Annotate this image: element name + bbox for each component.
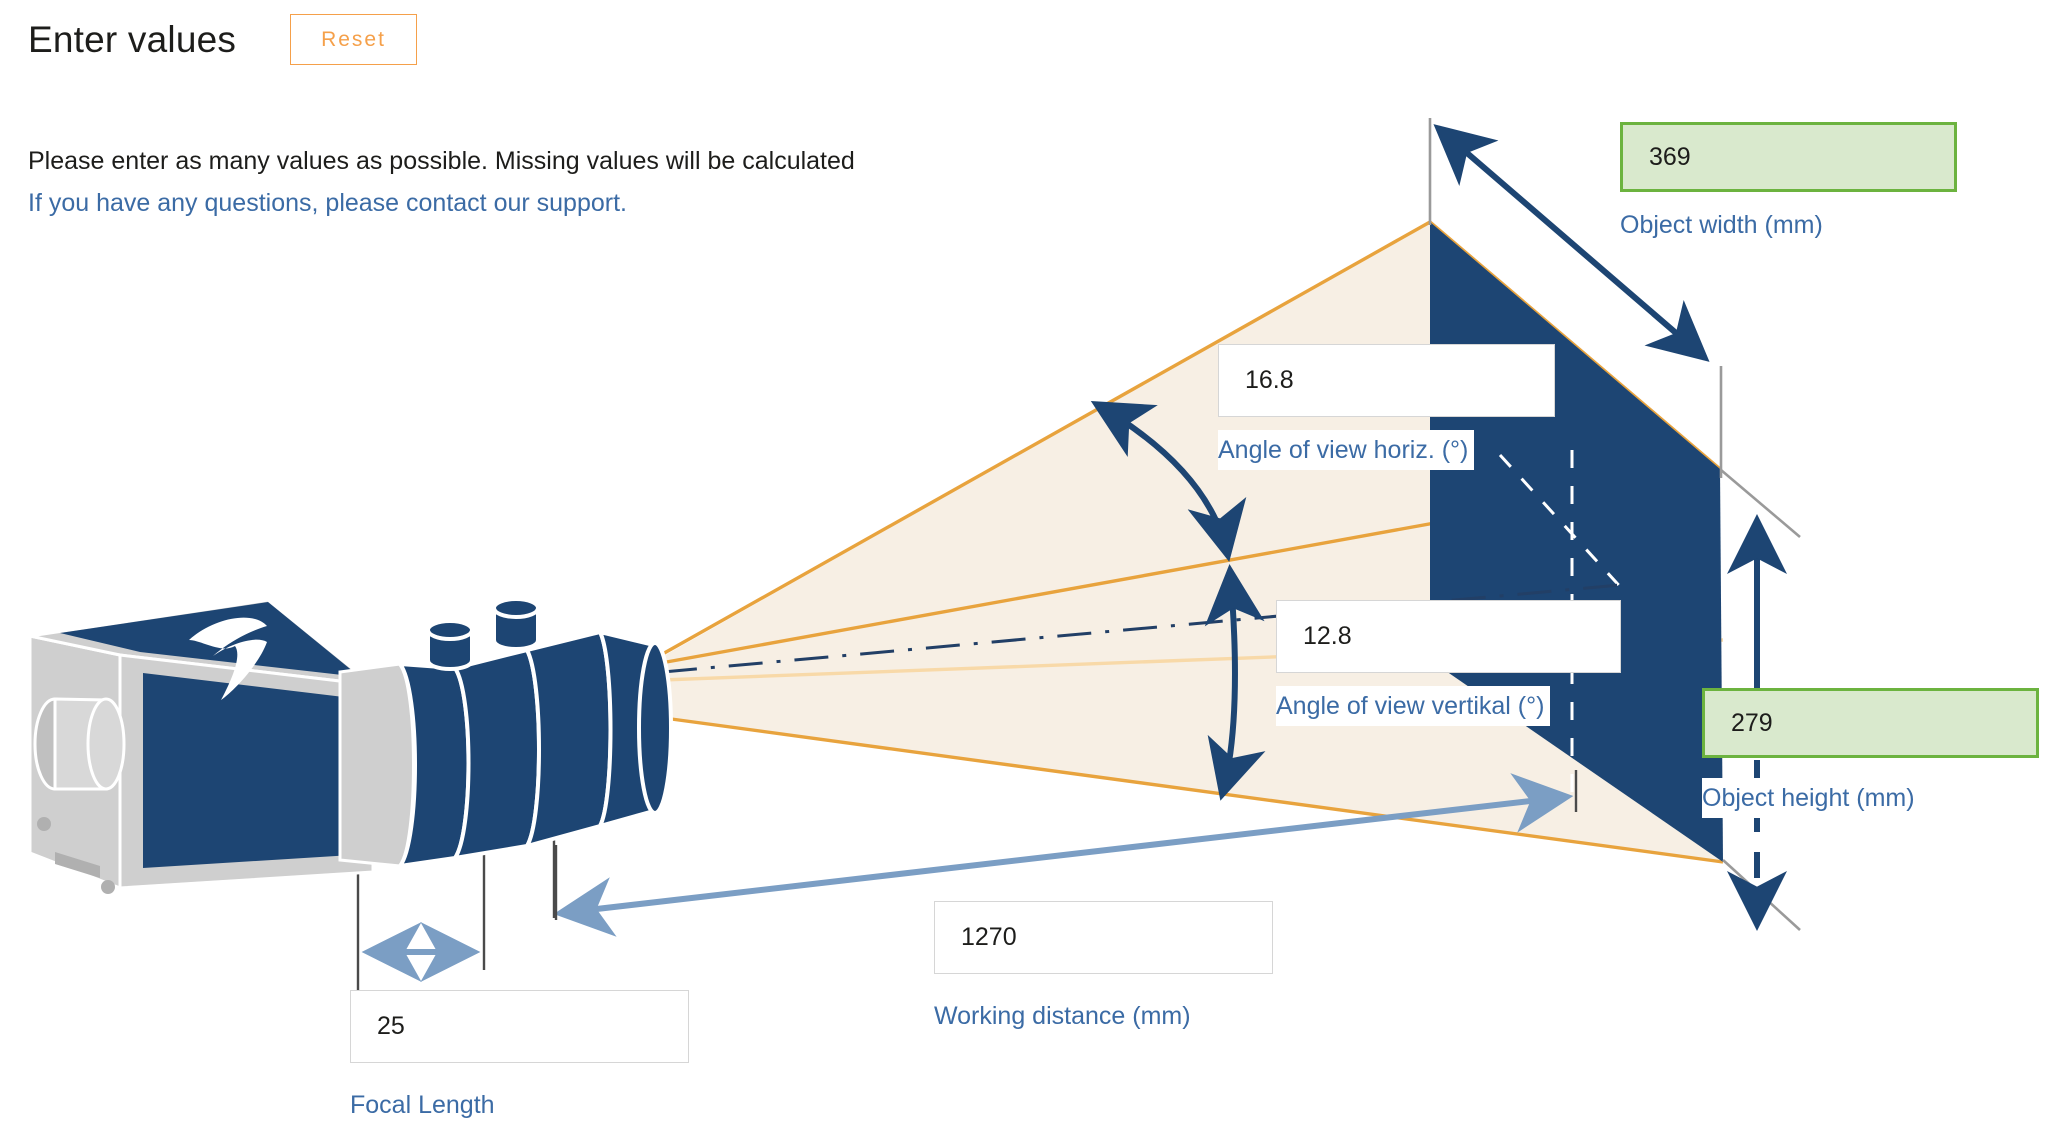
- angle-vertical-label: Angle of view vertikal (°): [1276, 686, 1550, 726]
- camera-body: [30, 600, 373, 894]
- lens-knob-2: [494, 599, 538, 649]
- camera-screw-bottom: [101, 880, 115, 894]
- focal-length-input[interactable]: 25: [350, 990, 689, 1063]
- field-group-focal-length: 25 Focal Length: [350, 990, 689, 1125]
- reset-button[interactable]: Reset: [290, 14, 417, 65]
- object-width-input[interactable]: 369: [1620, 122, 1957, 192]
- camera-screw-top: [37, 817, 51, 831]
- camera-rear-port-rim: [88, 699, 124, 789]
- guide-line-height-top: [1721, 470, 1800, 537]
- field-group-working-distance: 1270 Working distance (mm): [934, 901, 1273, 1036]
- object-height-label: Object height (mm): [1702, 778, 1921, 818]
- field-group-object-height: 279 Object height (mm): [1702, 688, 2039, 818]
- lens-mount: [340, 664, 414, 866]
- field-group-angle-horizontal: 16.8 Angle of view horiz. (°): [1218, 344, 1555, 470]
- intro-block: Please enter as many values as possible.…: [28, 140, 855, 228]
- lens-front-face: [639, 643, 671, 813]
- lens-knob-1: [428, 621, 472, 669]
- support-link[interactable]: If you have any questions, please contac…: [28, 182, 627, 224]
- object-height-input[interactable]: 279: [1702, 688, 2039, 758]
- lens-ring-3: [527, 632, 611, 846]
- lens-barrel: [340, 599, 671, 866]
- page-title: Enter values: [28, 19, 236, 61]
- field-group-object-width: 369 Object width (mm): [1620, 122, 1957, 245]
- intro-text: Please enter as many values as possible.…: [28, 140, 855, 182]
- focal-length-label: Focal Length: [350, 1085, 501, 1125]
- angle-vertical-input[interactable]: 12.8: [1276, 600, 1621, 673]
- camera-front-panel: [143, 673, 352, 868]
- field-group-angle-vertical: 12.8 Angle of view vertikal (°): [1276, 600, 1621, 726]
- working-distance-label: Working distance (mm): [934, 996, 1197, 1036]
- header: Enter values Reset: [28, 14, 417, 65]
- angle-horizontal-label: Angle of view horiz. (°): [1218, 430, 1474, 470]
- object-width-label: Object width (mm): [1620, 205, 1829, 245]
- working-distance-input[interactable]: 1270: [934, 901, 1273, 974]
- angle-horizontal-input[interactable]: 16.8: [1218, 344, 1555, 417]
- lens-ring-2: [455, 650, 539, 858]
- working-distance-arrow-line: [562, 797, 1565, 913]
- guide-line-height-bottom: [1723, 860, 1800, 930]
